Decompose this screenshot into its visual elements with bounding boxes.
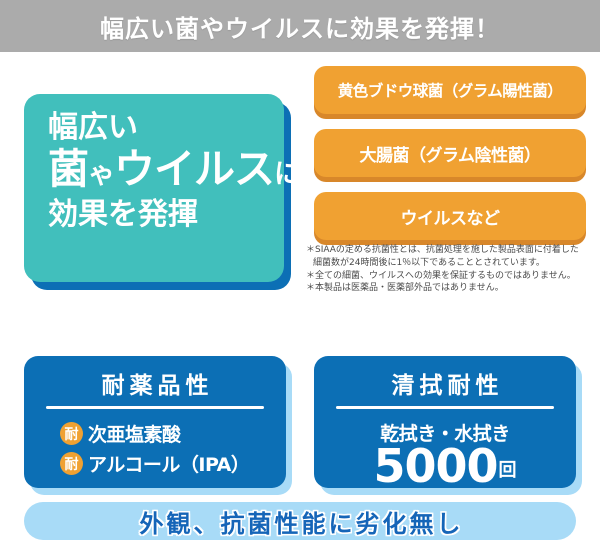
hero-line-2: 菌ゃウイルスに (48, 148, 284, 191)
hero-card: 幅広い 菌ゃウイルスに 効果を発揮 (24, 94, 284, 282)
bottom-banner-text: 外観、抗菌性能に劣化無し (137, 504, 464, 539)
upper-section: 幅広い 菌ゃウイルスに 効果を発揮 黄色ブドウ球菌（グラム陽性菌） 大腸菌（グラ… (0, 52, 600, 352)
chemical-resistance-panel-container: 耐薬品性 耐 次亜塩素酸 耐 アルコール（IPA） (24, 356, 286, 488)
wipe-count-unit: 回 (499, 460, 517, 481)
chemical-panel-title: 耐薬品性 (24, 366, 286, 400)
hero-line2-ya: ゃ (88, 159, 114, 190)
target-pill-label-1: 大腸菌（グラム陰性菌） (314, 129, 586, 177)
target-pill-item: 黄色ブドウ球菌（グラム陽性菌） (314, 66, 586, 116)
wipe-panel-title: 清拭耐性 (314, 366, 576, 400)
footnote-block: ＊SIAAの定める抗菌性とは、抗菌処理を施した製品表面に付着した 細菌数が24時… (306, 244, 598, 295)
wipe-resistance-panel: 清拭耐性 乾拭き・水拭き 5000回 (314, 356, 576, 488)
hero-line-1: 幅広い (48, 112, 284, 144)
page-title: 幅広い菌やウイルスに効果を発揮！ (100, 9, 500, 44)
footnote-line-3: ＊本製品は医薬品・医薬部外品ではありません。 (306, 282, 598, 295)
resistance-badge-icon: 耐 (60, 452, 83, 475)
chemical-item: 耐 次亜塩素酸 (24, 420, 286, 447)
wipe-count-number: 5000 (373, 439, 497, 493)
hero-line2-ni: に (274, 159, 300, 190)
target-pill-item: 大腸菌（グラム陰性菌） (314, 129, 586, 179)
target-pill-list: 黄色ブドウ球菌（グラム陽性菌） 大腸菌（グラム陰性菌） ウイルスなど (314, 66, 586, 255)
hero-line2-kin: 菌 (48, 145, 88, 193)
target-pill-label-2: ウイルスなど (314, 192, 586, 240)
chemical-item-label-0: 次亜塩素酸 (88, 420, 181, 447)
resistance-badge-icon: 耐 (60, 422, 83, 445)
wipe-count: 5000回 (314, 445, 576, 489)
header-bar: 幅広い菌やウイルスに効果を発揮！ (0, 0, 600, 52)
bottom-banner: 外観、抗菌性能に劣化無し (24, 502, 576, 540)
footnote-line-1: ＊SIAAの定める抗菌性とは、抗菌処理を施した製品表面に付着した (306, 244, 598, 257)
hero-line-3: 効果を発揮 (48, 199, 284, 231)
footnote-line-1b: 細菌数が24時間後に1％以下であることとされています。 (306, 257, 598, 270)
target-pill-label-0: 黄色ブドウ球菌（グラム陽性菌） (314, 66, 586, 114)
wipe-panel-body: 乾拭き・水拭き 5000回 (314, 409, 576, 489)
chemical-item: 耐 アルコール（IPA） (24, 450, 286, 477)
chemical-panel-body: 耐 次亜塩素酸 耐 アルコール（IPA） (24, 409, 286, 477)
feature-panel-row: 耐薬品性 耐 次亜塩素酸 耐 アルコール（IPA） 清拭耐性 乾拭き・水拭き (0, 356, 600, 496)
hero-card-container: 幅広い 菌ゃウイルスに 効果を発揮 (24, 94, 284, 282)
footnote-line-2: ＊全ての細菌、ウイルスへの効果を保証するものではありません。 (306, 270, 598, 283)
hero-line2-virus: ウイルス (114, 145, 274, 193)
target-pill-item: ウイルスなど (314, 192, 586, 242)
chemical-item-label-1: アルコール（IPA） (88, 450, 249, 477)
chemical-resistance-panel: 耐薬品性 耐 次亜塩素酸 耐 アルコール（IPA） (24, 356, 286, 488)
wipe-resistance-panel-container: 清拭耐性 乾拭き・水拭き 5000回 (314, 356, 576, 488)
